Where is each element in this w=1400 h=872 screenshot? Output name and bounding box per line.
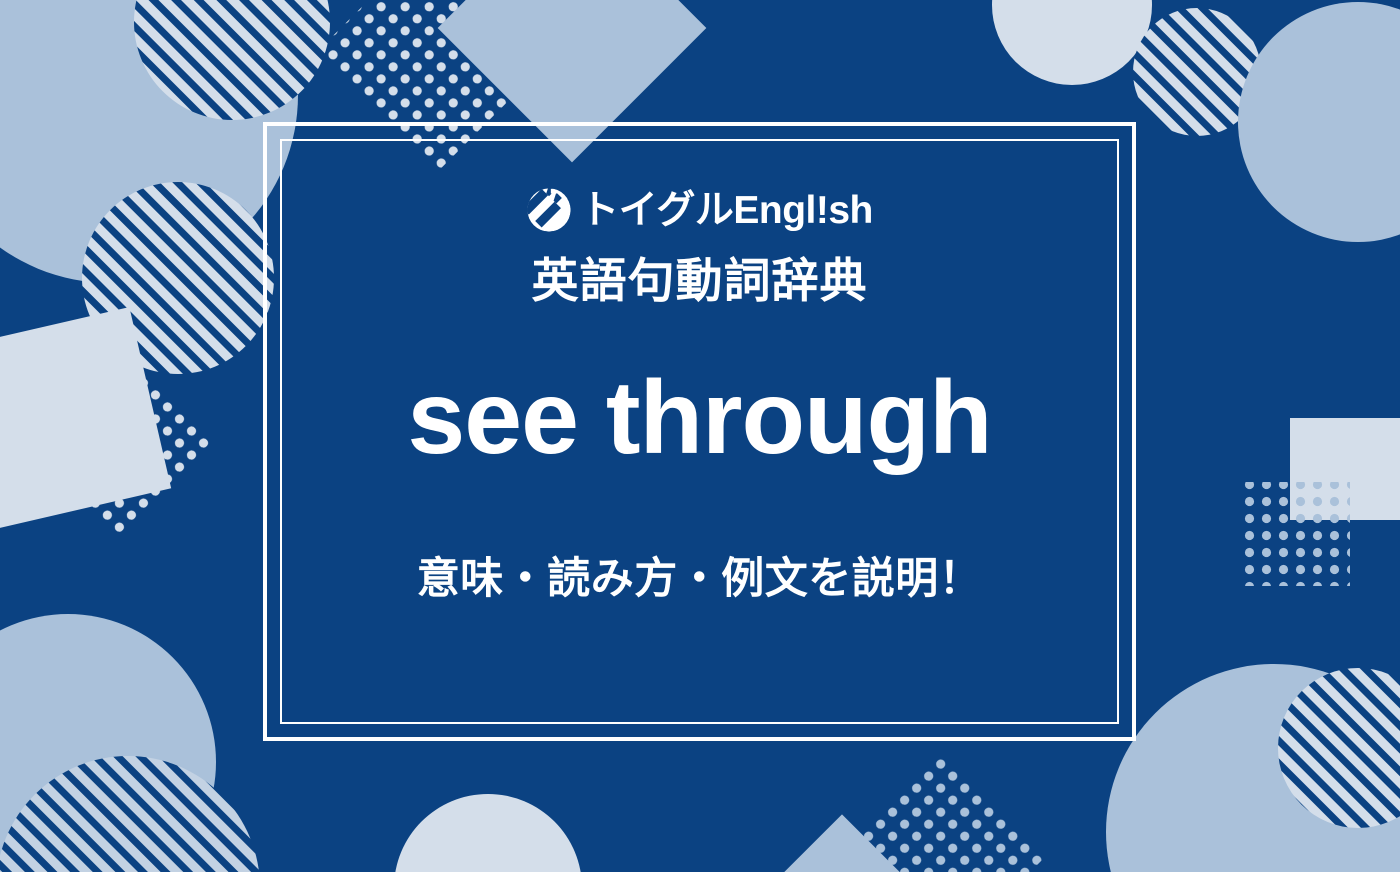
card-headword: see through [407,366,991,470]
brand-name-jp: トイグル [580,189,733,232]
thumbnail-canvas: トイグルEngl!sh 英語句動詞辞典 see through 意味・読み方・例… [0,0,1400,872]
square-dotted-right [1238,482,1350,586]
card-tagline: 意味・読み方・例文を説明！ [417,558,983,601]
card-subtitle: 英語句動詞辞典 [532,257,868,304]
brand-name-latin: Engl!sh [733,189,873,232]
brand-name: トイグルEngl!sh [580,191,873,230]
card-content: トイグルEngl!sh 英語句動詞辞典 see through 意味・読み方・例… [280,139,1119,724]
toigle-circle-arrows-icon [526,187,572,233]
brand-lockup: トイグルEngl!sh [526,187,873,233]
